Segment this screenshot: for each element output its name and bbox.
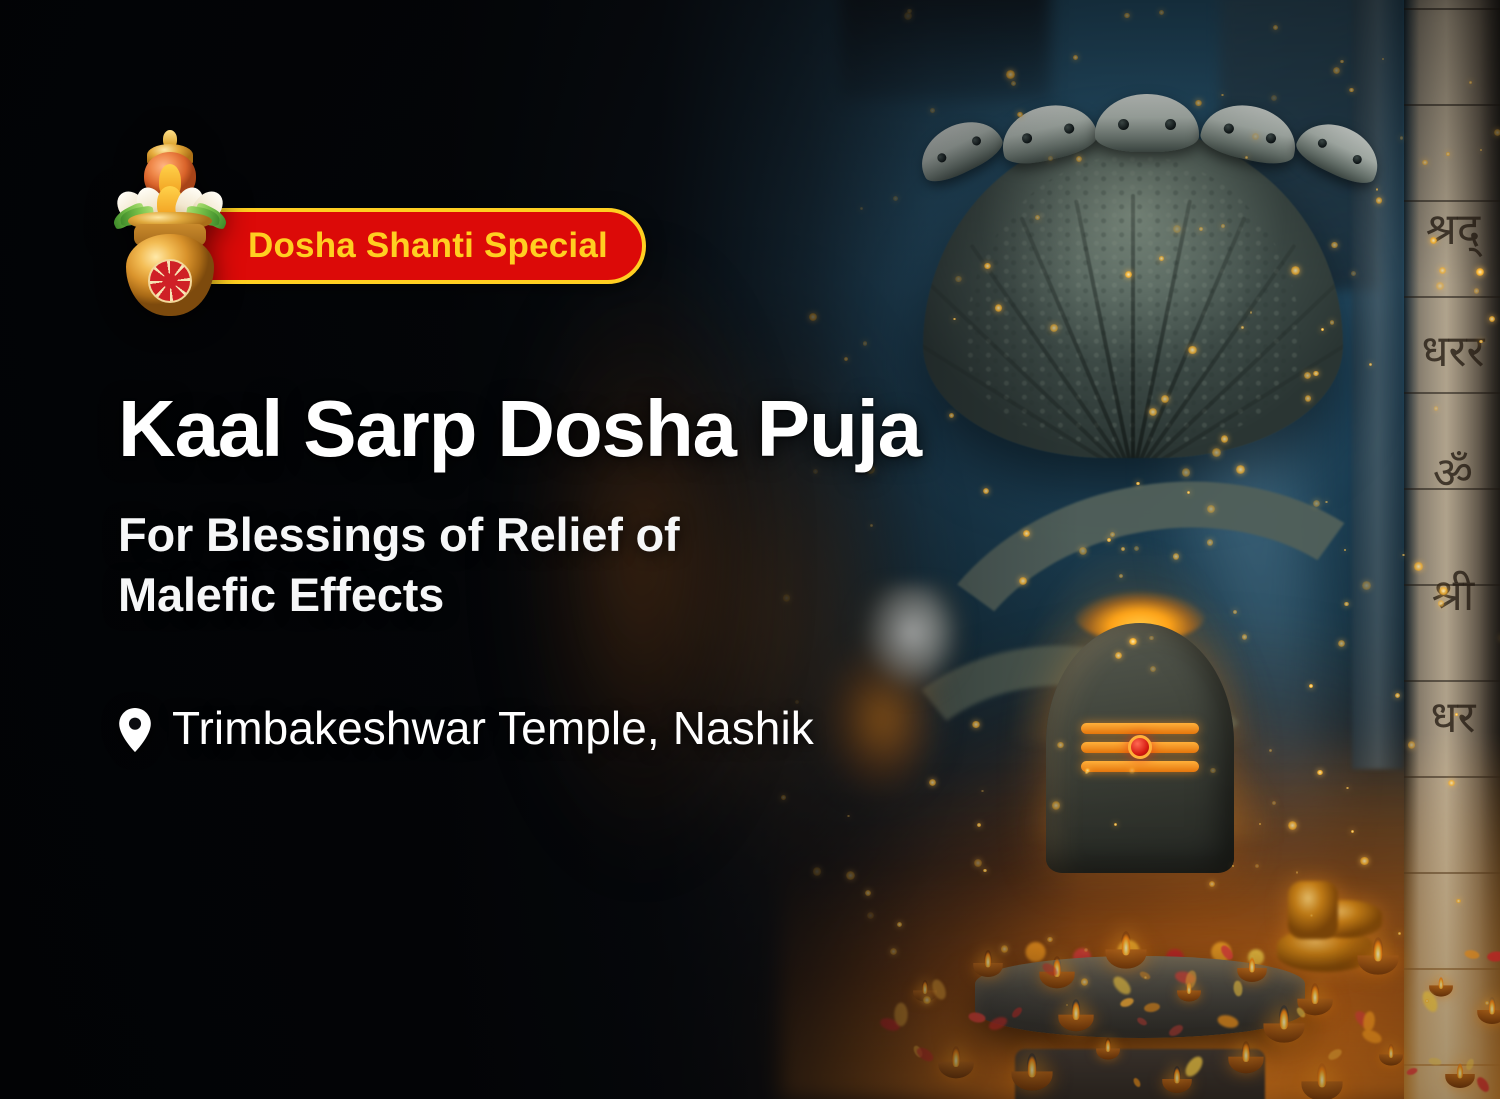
badge-label: Dosha Shanti Special [248,226,608,266]
kalash-pot-body [126,234,214,316]
special-badge[interactable]: Dosha Shanti Special [118,176,646,316]
badge-pill[interactable]: Dosha Shanti Special [196,208,646,284]
location-line: Trimbakeshwar Temple, Nashik [118,698,878,760]
page-title: Kaal Sarp Dosha Puja [118,388,1118,470]
kalash-icon [118,176,222,316]
location-text: Trimbakeshwar Temple, Nashik [172,698,814,760]
map-pin-icon [118,708,152,757]
banner-content: Dosha Shanti Special Kaal Sarp Dosha Puj… [0,0,1500,1099]
puja-promo-banner: श्रद्धररॐश्रीधर [0,0,1500,1099]
page-subtitle: For Blessings of Relief of Malefic Effec… [118,505,838,625]
